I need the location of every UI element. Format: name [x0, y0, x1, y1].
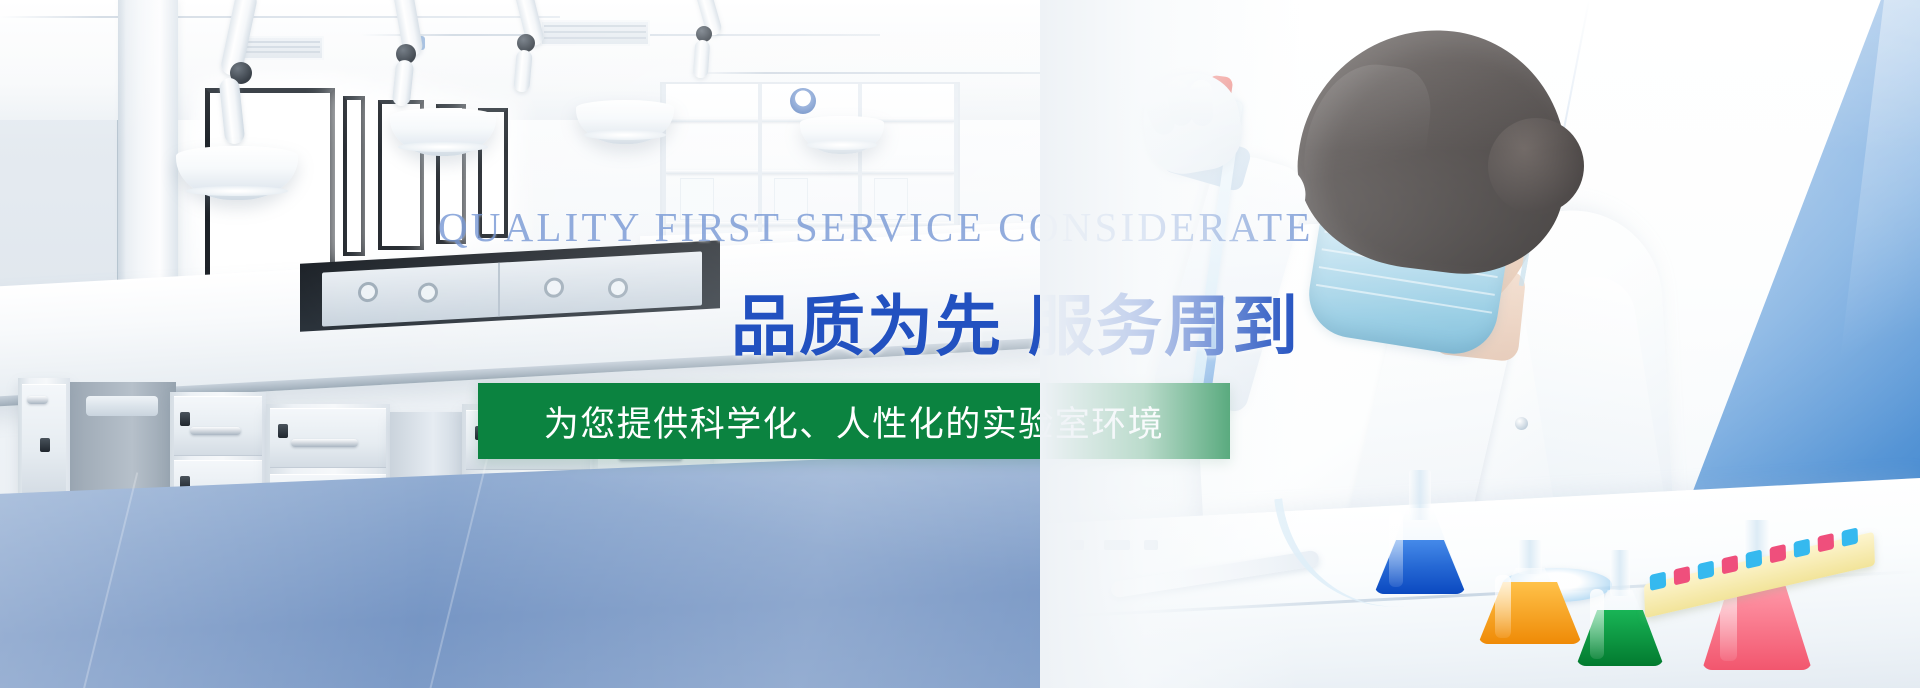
hair-bun	[1488, 118, 1584, 214]
lab-window	[343, 96, 365, 256]
ceiling-line	[0, 16, 560, 18]
flask-blue	[1374, 470, 1466, 594]
lab-lamp-hood	[576, 100, 674, 144]
wall-logo-icon	[790, 88, 816, 114]
lab-lamp-hood	[390, 108, 496, 156]
collar-button	[1515, 417, 1528, 430]
lab-lamp-hood	[176, 146, 298, 200]
flask-orange	[1478, 540, 1582, 644]
pull-out-tray	[86, 396, 158, 416]
technician-photo	[1040, 0, 1920, 688]
promo-banner: QUALITY FIRST SERVICE CONSIDERATE 品质为先 服…	[0, 0, 1920, 688]
photo-blend-gradient	[1040, 0, 1300, 688]
ceiling-vent-icon	[540, 20, 650, 46]
